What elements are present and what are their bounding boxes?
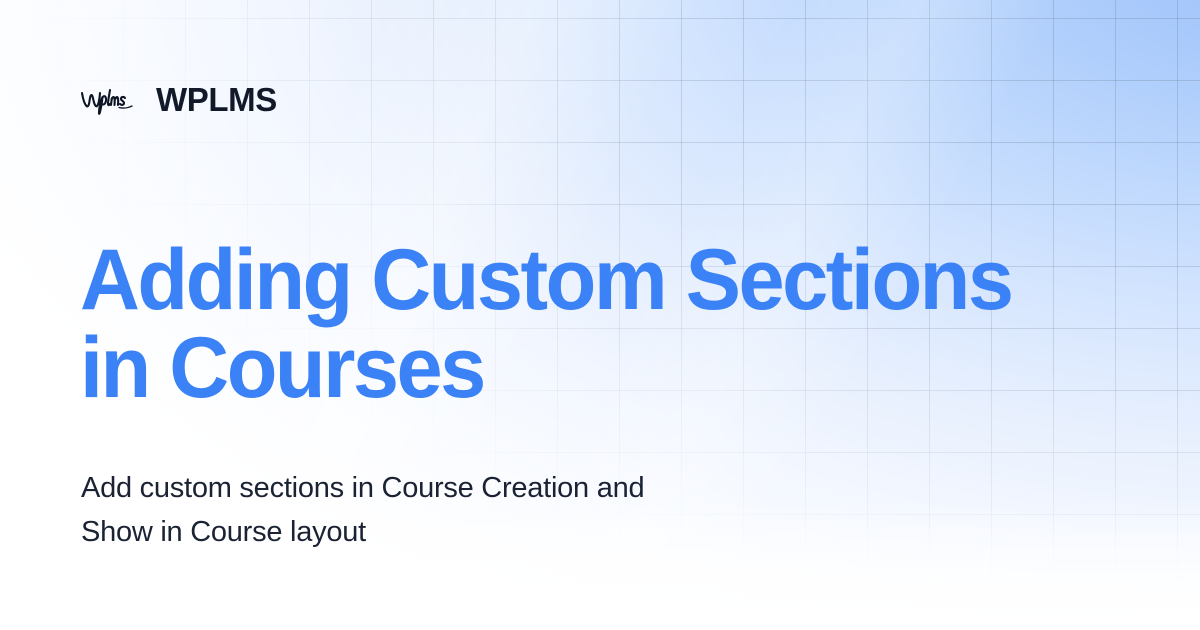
share-card-canvas: WPLMS Adding Custom Sections in Courses … xyxy=(0,0,1200,630)
card-content: WPLMS Adding Custom Sections in Courses … xyxy=(0,0,1200,630)
page-subtitle: Add custom sections in Course Creation a… xyxy=(81,466,901,554)
brand-wordmark: WPLMS xyxy=(156,83,277,116)
brand-lockup: WPLMS xyxy=(80,82,277,116)
wplms-script-logo-icon xyxy=(80,82,138,116)
page-title: Adding Custom Sections in Courses xyxy=(80,236,1103,412)
